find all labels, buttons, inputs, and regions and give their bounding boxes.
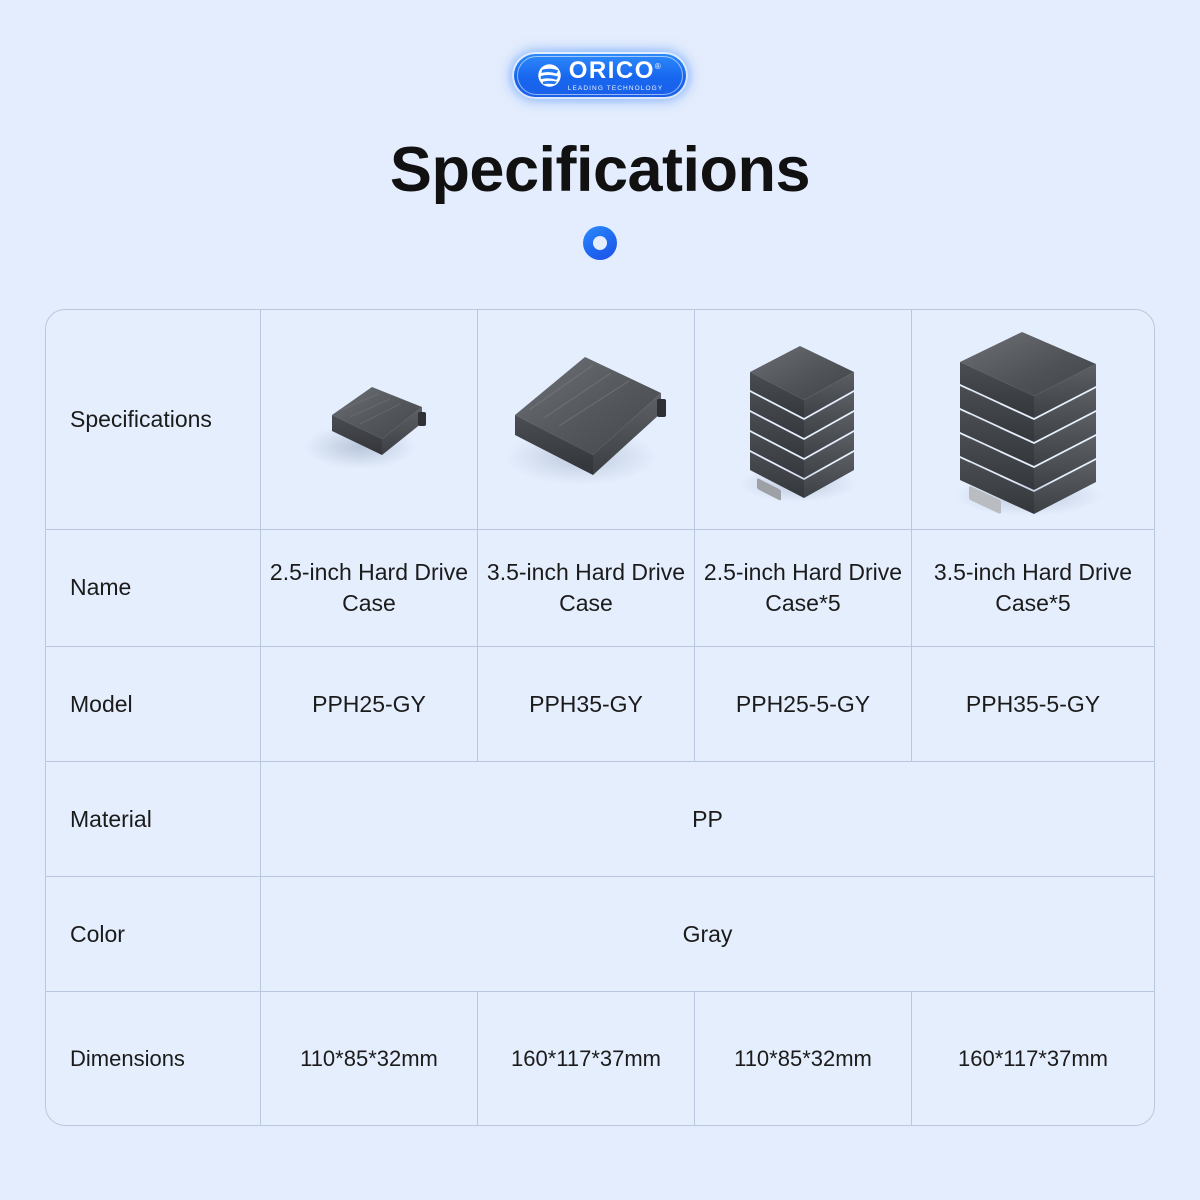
- logo-tagline: LEADING TECHNOLOGY: [568, 86, 664, 93]
- title-divider: [0, 226, 1200, 260]
- table-row-name: Name 2.5-inch Hard Drive Case 3.5-inch H…: [46, 530, 1154, 647]
- hard-drive-case-3-5-inch-single-icon: [489, 337, 684, 502]
- table-row-color: Color Gray: [46, 877, 1154, 992]
- product-dimensions-1: 110*85*32mm: [261, 992, 478, 1125]
- registered-trademark-icon: ®: [655, 62, 662, 71]
- material-value: PP: [261, 762, 1154, 876]
- product-image-cell-1: [261, 310, 478, 529]
- hard-drive-case-3-5-inch-stack-of-5-icon: [938, 320, 1128, 520]
- product-model-2: PPH35-GY: [478, 647, 695, 761]
- row-label-name: Name: [46, 530, 261, 646]
- hard-drive-case-2-5-inch-single-icon: [294, 355, 444, 485]
- globe-icon: [537, 63, 562, 88]
- product-image-cell-3: [695, 310, 912, 529]
- brand-logo: ORICO® LEADING TECHNOLOGY: [0, 47, 1200, 104]
- product-dimensions-2: 160*117*37mm: [478, 992, 695, 1125]
- row-label-specifications: Specifications: [46, 310, 261, 529]
- product-name-4: 3.5-inch Hard Drive Case*5: [912, 530, 1154, 646]
- product-model-3: PPH25-5-GY: [695, 647, 912, 761]
- row-label-model: Model: [46, 647, 261, 761]
- table-row-dimensions: Dimensions 110*85*32mm 160*117*37mm 110*…: [46, 992, 1154, 1125]
- logo-content: ORICO® LEADING TECHNOLOGY: [537, 59, 664, 93]
- product-model-1: PPH25-GY: [261, 647, 478, 761]
- product-model-4: PPH35-5-GY: [912, 647, 1154, 761]
- product-image-cell-4: [912, 310, 1154, 529]
- product-name-3: 2.5-inch Hard Drive Case*5: [695, 530, 912, 646]
- blue-ring-icon: [583, 226, 617, 260]
- specifications-table: Specifications: [45, 309, 1155, 1126]
- table-row-images: Specifications: [46, 310, 1154, 530]
- product-name-1: 2.5-inch Hard Drive Case: [261, 530, 478, 646]
- logo-wordmark: ORICO®: [569, 59, 663, 83]
- page-title: Specifications: [0, 134, 1200, 206]
- row-label-material: Material: [46, 762, 261, 876]
- product-dimensions-3: 110*85*32mm: [695, 992, 912, 1125]
- product-name-2: 3.5-inch Hard Drive Case: [478, 530, 695, 646]
- row-label-dimensions: Dimensions: [46, 992, 261, 1125]
- product-image-cell-2: [478, 310, 695, 529]
- table-row-material: Material PP: [46, 762, 1154, 877]
- hard-drive-case-2-5-inch-stack-of-5-icon: [728, 332, 878, 507]
- logo-pill: ORICO® LEADING TECHNOLOGY: [512, 52, 688, 99]
- row-label-color: Color: [46, 877, 261, 991]
- logo-glow: ORICO® LEADING TECHNOLOGY: [507, 47, 693, 104]
- product-dimensions-4: 160*117*37mm: [912, 992, 1154, 1125]
- color-value: Gray: [261, 877, 1154, 991]
- logo-wordmark-text: ORICO: [569, 57, 655, 84]
- table-row-model: Model PPH25-GY PPH35-GY PPH25-5-GY PPH35…: [46, 647, 1154, 762]
- logo-text-block: ORICO® LEADING TECHNOLOGY: [568, 59, 664, 93]
